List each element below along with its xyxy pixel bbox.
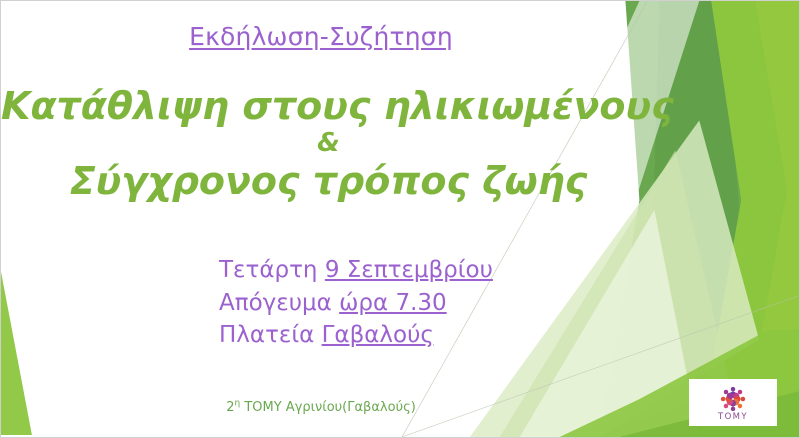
event-time-line: Απόγευμα ώρα 7.30 [219, 287, 549, 320]
event-place-value: Γαβαλούς [322, 322, 434, 348]
event-place-line: Πλατεία Γαβαλούς [219, 319, 549, 352]
event-details-block: Τετάρτη 9 Σεπτεμβρίου Απόγευμα ώρα 7.30 … [219, 254, 549, 352]
organisation-name: ΤΟΜΥ Αγρινίου(Γαβαλούς) [240, 400, 416, 415]
event-place-label: Πλατεία [219, 322, 322, 348]
slide-content: Εκδήλωση-Συζήτηση Κατάθλιψη στους ηλικιω… [1, 1, 799, 437]
event-time-label: Απόγευμα [219, 290, 339, 316]
event-date-value: 9 Σεπτεμβρίου [325, 257, 493, 283]
event-time-value: ώρα 7.30 [339, 290, 447, 316]
tomy-people-circle-icon [718, 384, 748, 414]
event-type-label: Εκδήλωση-Συζήτηση [1, 23, 641, 51]
slide-title-line-1: Κατάθλιψη στους ηλικιωμένους [1, 83, 656, 129]
slide-title-line-2: Σύγχρονος τρόπος ζωής [1, 158, 656, 204]
presentation-slide: Εκδήλωση-Συζήτηση Κατάθλιψη στους ηλικιω… [0, 0, 800, 438]
tomy-logo: TOMY [689, 379, 777, 426]
event-date-line: Τετάρτη 9 Σεπτεμβρίου [219, 254, 549, 287]
tomy-logo-wordmark: TOMY [718, 412, 748, 422]
slide-title-block: Κατάθλιψη στους ηλικιωμένους & Σύγχρονος… [1, 83, 656, 204]
event-day-label: Τετάρτη [219, 257, 325, 283]
slide-title-ampersand: & [1, 129, 656, 158]
organisation-footer: 2η ΤΟΜΥ Αγρινίου(Γαβαλούς) [1, 400, 641, 415]
